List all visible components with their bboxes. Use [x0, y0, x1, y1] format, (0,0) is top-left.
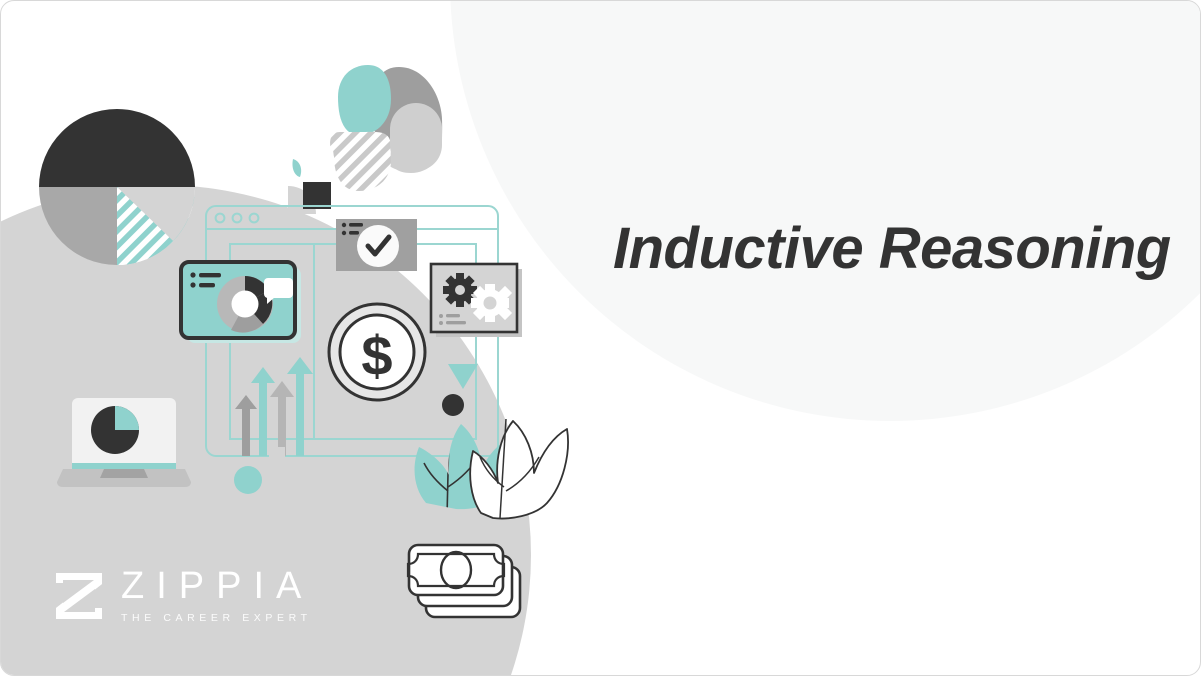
checkmark-card	[336, 219, 417, 271]
crescent-shape	[229, 458, 262, 496]
clover-shape	[330, 65, 442, 191]
donut-chart-card	[181, 262, 301, 343]
laptop-pie-chart	[57, 398, 191, 487]
svg-text:$: $	[361, 324, 392, 387]
logo-tagline: THE CAREER EXPERT	[121, 612, 313, 624]
gears-card	[431, 264, 522, 337]
plant-leaves	[415, 419, 568, 518]
dark-square	[303, 182, 331, 209]
zippia-z-mark	[53, 570, 105, 622]
pie-chart-large	[39, 109, 195, 265]
gear-white-icon	[471, 284, 512, 322]
dark-dot	[442, 394, 464, 416]
teal-leaflet	[292, 159, 301, 177]
teal-triangle	[448, 364, 478, 389]
cash-stack	[408, 545, 520, 617]
page-title: Inductive Reasoning	[613, 215, 1171, 282]
slide-card: $	[0, 0, 1201, 676]
logo-wordmark: ZIPPIA	[121, 567, 313, 605]
dollar-coin: $	[329, 304, 430, 405]
gray-tab	[269, 447, 285, 475]
zippia-logo: ZIPPIA THE CAREER EXPERT	[53, 567, 313, 624]
growth-arrows	[235, 357, 313, 456]
